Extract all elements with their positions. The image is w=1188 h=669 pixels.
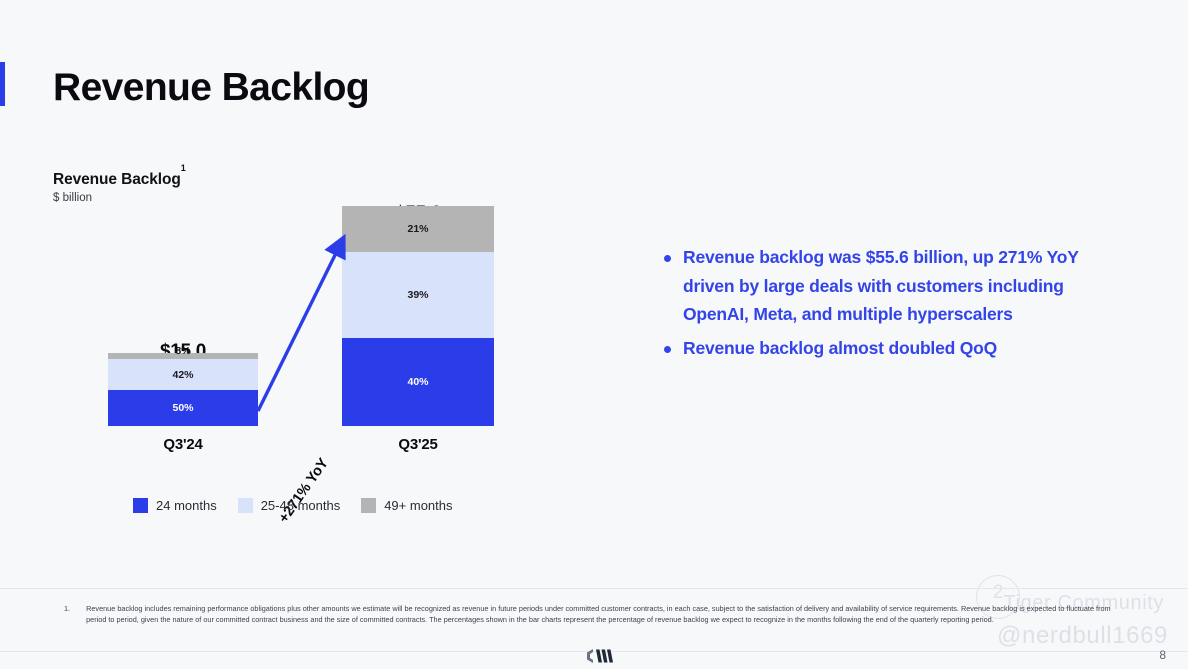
bar-segment-25-48: 39% <box>342 252 494 338</box>
page-number: 8 <box>1159 648 1166 662</box>
category-label-q325: Q3'25 <box>342 436 494 453</box>
bar-chart: $15.0 8% 42% 50% Q3'24 $55.6 21% 39% 40%… <box>53 215 573 485</box>
legend-item-25-48-months: 25-48 months <box>238 498 341 513</box>
footer-divider <box>0 588 1188 589</box>
footnote-text: Revenue backlog includes remaining perfo… <box>86 603 1124 626</box>
bullet-text: Revenue backlog was $55.6 billion, up 27… <box>683 243 1134 329</box>
chart-title-text: Revenue Backlog <box>53 171 181 188</box>
page-title: Revenue Backlog <box>53 66 369 110</box>
category-label-q324: Q3'24 <box>108 436 258 453</box>
legend-label: 24 months <box>156 498 217 513</box>
chart-title-footnote-marker: 1 <box>181 163 186 173</box>
legend-item-24-months: 24 months <box>133 498 217 513</box>
bar-segment-25-48: 42% <box>108 359 258 390</box>
footnote-number: 1. <box>64 603 70 626</box>
footnote: 1. Revenue backlog includes remaining pe… <box>64 603 1124 626</box>
legend-label: 49+ months <box>384 498 452 513</box>
bar-segment-24: 40% <box>342 338 494 426</box>
coreweave-logo <box>584 647 614 665</box>
bar-segment-49plus: 21% <box>342 206 494 252</box>
chart-legend: 24 months 25-48 months 49+ months <box>133 498 453 513</box>
title-accent-bar <box>0 62 5 106</box>
bar-stack: 21% 39% 40% <box>342 206 494 426</box>
bullet-dot-icon <box>664 255 671 262</box>
list-item: Revenue backlog was $55.6 billion, up 27… <box>664 243 1134 329</box>
legend-swatch-icon <box>238 498 253 513</box>
legend-swatch-icon <box>133 498 148 513</box>
bar-segment-24: 50% <box>108 390 258 426</box>
bullet-dot-icon <box>664 346 671 353</box>
legend-label: 25-48 months <box>261 498 341 513</box>
bullet-text: Revenue backlog almost doubled QoQ <box>683 334 997 363</box>
watermark-handle: @nerdbull1669 <box>997 622 1168 650</box>
chart-units-label: $ billion <box>53 192 186 204</box>
chart-header: Revenue Backlog1 $ billion <box>53 170 186 204</box>
legend-item-49-plus-months: 49+ months <box>361 498 452 513</box>
legend-swatch-icon <box>361 498 376 513</box>
key-takeaways-list: Revenue backlog was $55.6 billion, up 27… <box>664 243 1134 362</box>
bar-stack: 8% 42% 50% <box>108 353 258 426</box>
list-item: Revenue backlog almost doubled QoQ <box>664 334 1134 363</box>
chart-title: Revenue Backlog1 <box>53 170 186 189</box>
growth-annotation-label: +271% YoY <box>276 456 332 526</box>
